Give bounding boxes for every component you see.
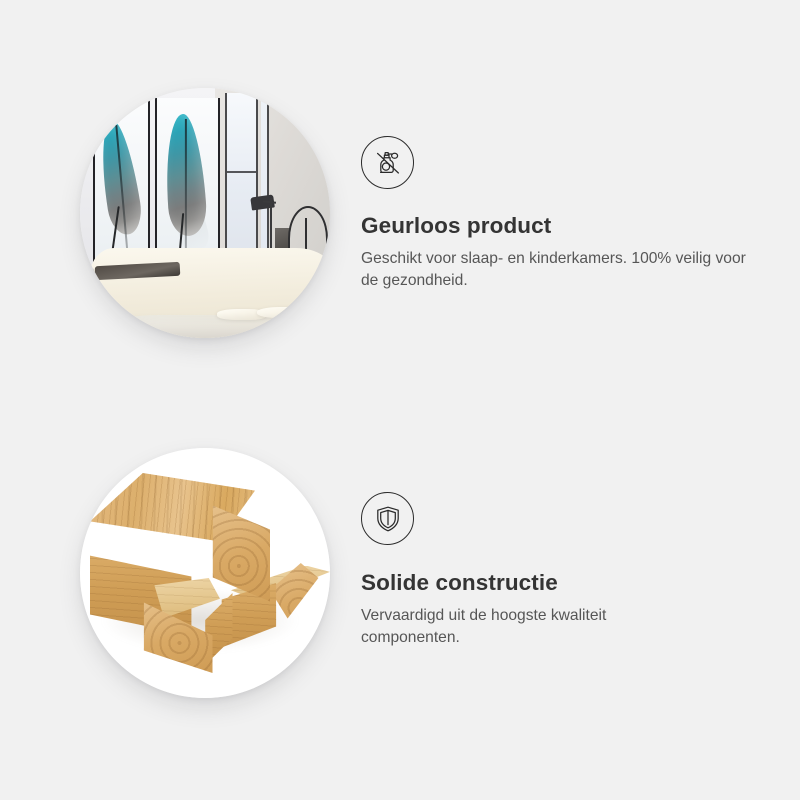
feature-block-odourless-product: Geurloos product Geschikt voor slaap- en…	[0, 60, 800, 420]
feature-text-odourless-product: Geurloos product Geschikt voor slaap- en…	[361, 60, 761, 292]
no-perfume-icon-glyph	[371, 146, 405, 180]
shield-icon	[361, 492, 414, 545]
feature-photo-odourless-product	[80, 88, 330, 338]
wooden-blocks-scene	[80, 448, 330, 698]
bedroom-window-secondary	[261, 93, 269, 258]
shield-icon-glyph	[371, 502, 405, 536]
feature-photo-solid-construction	[80, 448, 330, 698]
feature-title: Solide constructie	[361, 570, 761, 596]
feature-description: Vervaardigd uit de hoogste kwaliteit com…	[361, 605, 691, 649]
wooden-blocks-photo	[80, 448, 330, 698]
feather-wall-art-bedroom-photo	[80, 88, 330, 338]
feature-title: Geurloos product	[361, 213, 761, 239]
feather-shape	[161, 113, 207, 238]
feature-description: Geschikt voor slaap- en kinderkamers. 10…	[361, 248, 753, 292]
bedroom-window	[225, 93, 258, 263]
bedroom-floor	[80, 313, 330, 338]
bedroom-scene	[80, 88, 330, 338]
no-perfume-icon	[361, 136, 414, 189]
product-features-panel: Geurloos product Geschikt voor slaap- en…	[0, 0, 800, 800]
feature-text-solid-construction: Solide constructie Vervaardigd uit de ho…	[361, 420, 761, 649]
feature-block-solid-construction: Solide constructie Vervaardigd uit de ho…	[0, 420, 800, 780]
feather-shape	[94, 118, 145, 237]
